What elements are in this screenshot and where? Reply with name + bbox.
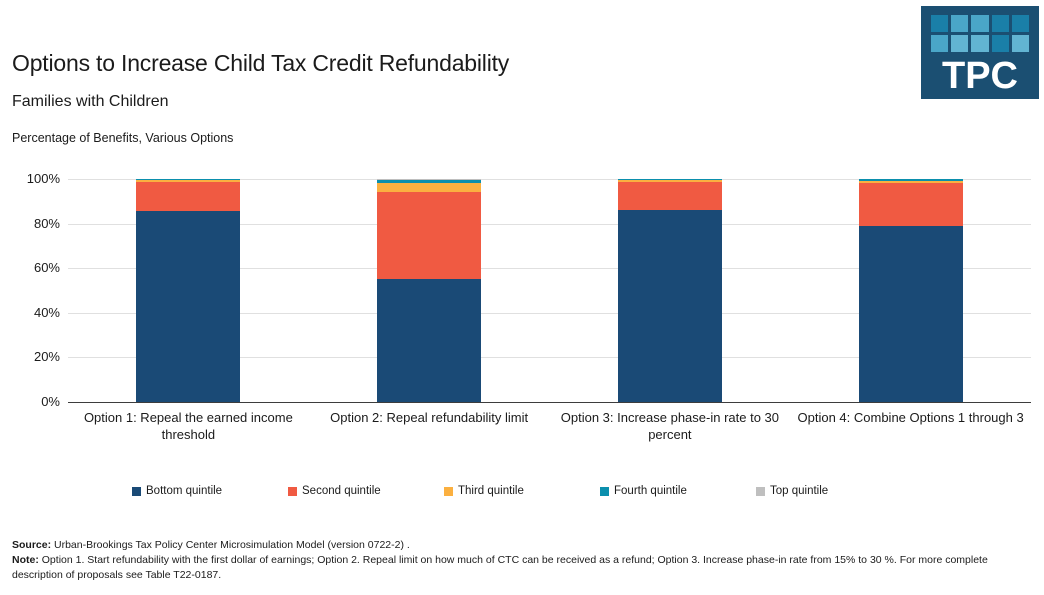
logo-tile-2 [951, 15, 968, 32]
logo-tile-7 [951, 35, 968, 52]
bar-segment-second-quintile[interactable] [136, 182, 240, 211]
legend-swatch-icon [288, 487, 297, 496]
legend-swatch-icon [132, 487, 141, 496]
bar-segment-second-quintile[interactable] [859, 183, 963, 226]
source-text: Urban-Brookings Tax Policy Center Micros… [54, 539, 410, 551]
x-axis-label-option-4: Option 4: Combine Options 1 through 3 [792, 409, 1030, 426]
legend-label: Third quintile [458, 485, 524, 497]
logo-tile-5 [1012, 15, 1029, 32]
legend-item-top-quintile[interactable]: Top quintile [756, 485, 912, 497]
legend-item-second-quintile[interactable]: Second quintile [288, 485, 444, 497]
x-axis-label-option-2: Option 2: Repeal refundability limit [310, 409, 548, 426]
bar-segment-second-quintile[interactable] [618, 182, 722, 210]
logo-tile-4 [992, 15, 1009, 32]
source-line: Source: Urban-Brookings Tax Policy Cente… [12, 538, 1034, 553]
bar-option-4[interactable] [859, 179, 963, 402]
logo-tile-9 [992, 35, 1009, 52]
y-axis-tick-80: 80% [0, 217, 60, 230]
bar-option-3[interactable] [618, 179, 722, 402]
bar-segment-bottom-quintile[interactable] [859, 226, 963, 402]
chart-legend: Bottom quintileSecond quintileThird quin… [0, 485, 1044, 497]
legend-swatch-icon [444, 487, 453, 496]
x-axis-label-option-3: Option 3: Increase phase-in rate to 30 p… [551, 409, 789, 443]
bar-segment-bottom-quintile[interactable] [377, 279, 481, 402]
logo-tile-8 [971, 35, 988, 52]
legend-item-bottom-quintile[interactable]: Bottom quintile [132, 485, 288, 497]
logo-tile-1 [931, 15, 948, 32]
logo-tile-grid [931, 15, 1029, 52]
bar-segment-third-quintile[interactable] [377, 183, 481, 192]
y-axis-tick-20: 20% [0, 350, 60, 363]
bar-option-2[interactable] [377, 179, 481, 402]
source-label: Source: [12, 539, 51, 551]
legend-label: Top quintile [770, 485, 828, 497]
logo-wordmark: TPC [921, 56, 1039, 96]
legend-label: Second quintile [302, 485, 381, 497]
legend-item-fourth-quintile[interactable]: Fourth quintile [600, 485, 756, 497]
legend-label: Bottom quintile [146, 485, 222, 497]
y-axis-tick-100: 100% [0, 172, 60, 185]
y-axis-tick-0: 0% [0, 395, 60, 408]
y-axis-tick-40: 40% [0, 306, 60, 319]
page-subtitle: Families with Children [12, 93, 169, 111]
bar-segment-bottom-quintile[interactable] [136, 211, 240, 402]
logo-tile-3 [971, 15, 988, 32]
legend-swatch-icon [756, 487, 765, 496]
page-title: Options to Increase Child Tax Credit Ref… [12, 50, 509, 77]
chart-footnotes: Source: Urban-Brookings Tax Policy Cente… [12, 538, 1034, 583]
legend-item-third-quintile[interactable]: Third quintile [444, 485, 600, 497]
logo-tile-10 [1012, 35, 1029, 52]
note-text: Option 1. Start refundability with the f… [12, 554, 988, 581]
bar-option-1[interactable] [136, 179, 240, 402]
x-axis-line [68, 402, 1031, 403]
tpc-logo: TPC [921, 6, 1039, 99]
note-line: Note: Option 1. Start refundability with… [12, 553, 1034, 583]
chart-axis-note: Percentage of Benefits, Various Options [12, 131, 233, 145]
bar-segment-bottom-quintile[interactable] [618, 210, 722, 402]
legend-label: Fourth quintile [614, 485, 687, 497]
x-axis-label-option-1: Option 1: Repeal the earned income thres… [69, 409, 307, 443]
plot-area [68, 179, 1031, 402]
note-label: Note: [12, 554, 39, 566]
y-axis-tick-60: 60% [0, 261, 60, 274]
legend-swatch-icon [600, 487, 609, 496]
bar-segment-second-quintile[interactable] [377, 192, 481, 279]
logo-tile-6 [931, 35, 948, 52]
